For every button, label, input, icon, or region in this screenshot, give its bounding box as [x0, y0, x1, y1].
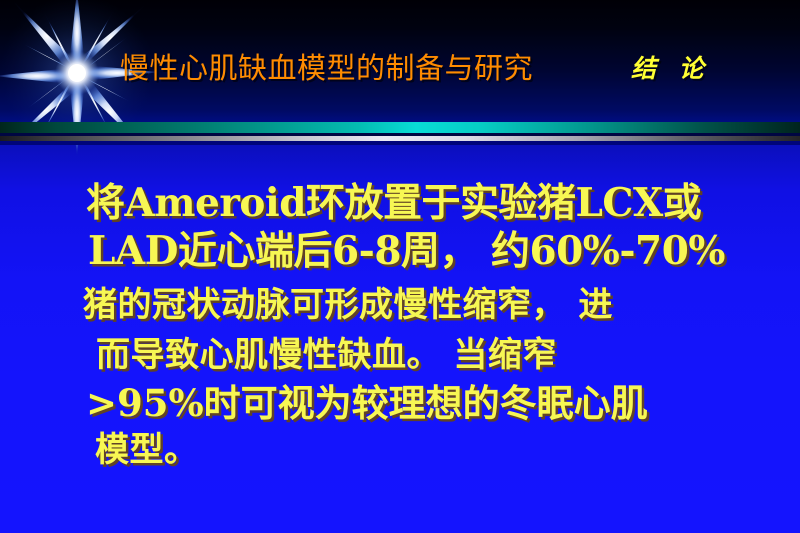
section-label: 结 论: [631, 53, 711, 85]
divider-teal-bar: [0, 122, 800, 133]
body-line-1: 将Ameroid环放置于实验猪LCX或: [86, 178, 701, 229]
divider-base-bar: [0, 141, 800, 145]
slide-header: 慢性心肌缺血模型的制备与研究 结 论: [0, 0, 800, 124]
body-line-3: 猪的冠状动脉可形成慢性缩窄， 进: [83, 283, 613, 328]
presentation-slide: 慢性心肌缺血模型的制备与研究 结 论 将Ameroid环放置于实验猪LCX或 L…: [0, 0, 800, 533]
body-line-6: 模型。: [95, 428, 199, 473]
body-line-5: >95%时可视为较理想的冬眠心肌: [86, 380, 648, 427]
body-line-2: LAD近心端后6-8周， 约60%-70%: [88, 226, 725, 277]
page-title: 慢性心肌缺血模型的制备与研究: [120, 51, 533, 85]
body-line-4: 而导致心肌慢性缺血。 当缩窄: [96, 333, 557, 378]
